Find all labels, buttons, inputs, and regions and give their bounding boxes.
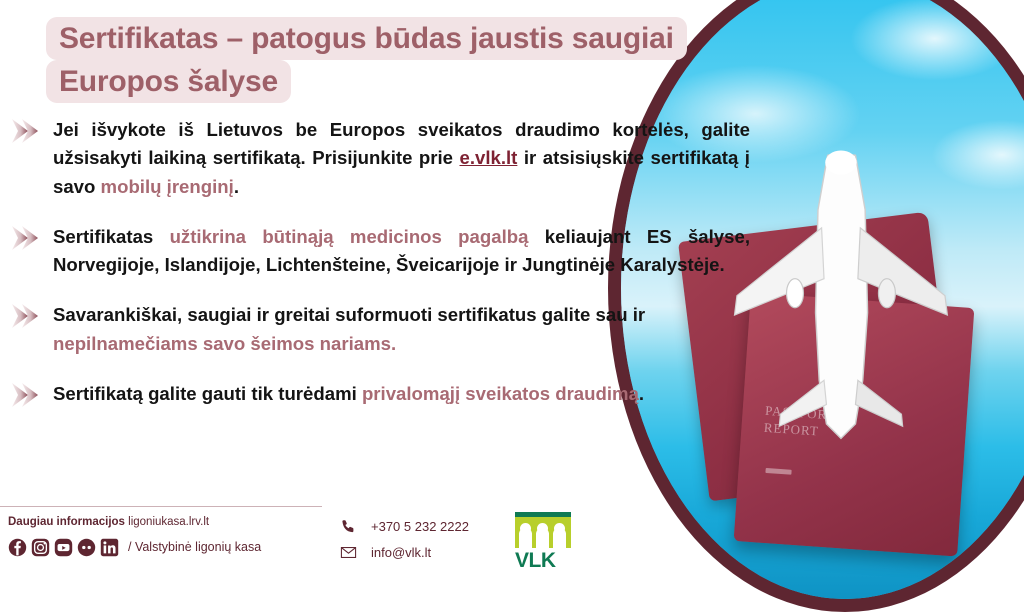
seg-text: Sertifikatas: [53, 226, 170, 247]
list-item: Jei išvykote iš Lietuvos be Europos svei…: [0, 116, 760, 201]
youtube-icon[interactable]: [54, 538, 73, 557]
more-info-label: Daugiau informacijos: [8, 516, 125, 528]
email-row[interactable]: info@vlk.lt: [340, 544, 469, 561]
chevron-right-icon: [8, 380, 42, 410]
passport-label: PASSPORT REPORT: [763, 404, 835, 441]
social-handle: / Valstybinė ligonių kasa: [128, 540, 261, 554]
facebook-icon[interactable]: [8, 538, 27, 557]
email-address: info@vlk.lt: [371, 545, 431, 560]
chevron-right-icon: [8, 116, 42, 146]
seg-accent: nepilnamečiams savo šeimos nariams.: [53, 333, 396, 354]
seg-accent: mobilų įrenginį: [101, 176, 234, 197]
list-item: Savarankiškai, saugiai ir greitai suform…: [0, 301, 760, 358]
phone-number: +370 5 232 2222: [371, 519, 469, 534]
flickr-icon[interactable]: [77, 538, 96, 557]
linkedin-icon[interactable]: [100, 538, 119, 557]
list-item: Sertifikatas užtikrina būtinąją medicino…: [0, 223, 760, 280]
bullet-text-4: Sertifikatą galite gauti tik turėdami pr…: [53, 380, 750, 408]
chevron-right-icon: [8, 301, 42, 331]
phone-icon: [340, 518, 357, 535]
passport-emblem: [765, 469, 791, 476]
seg-text: Savarankiškai, saugiai ir greitai suform…: [53, 304, 645, 325]
bullet-text-2: Sertifikatas užtikrina būtinąją medicino…: [53, 223, 750, 280]
vlk-link[interactable]: e.vlk.lt: [459, 147, 517, 168]
seg-accent: privalomąjį sveikatos draudimą: [362, 383, 639, 404]
title-line-2: Europos šalyse: [46, 60, 291, 103]
instagram-icon[interactable]: [31, 538, 50, 557]
bullet-list: Jei išvykote iš Lietuvos be Europos svei…: [0, 116, 760, 430]
vlk-logo-text: VLK: [515, 550, 573, 571]
envelope-icon: [340, 544, 357, 561]
title-line-1: Sertifikatas – patogus būdas jaustis sau…: [46, 17, 687, 60]
footer-contact-column: +370 5 232 2222 info@vlk.lt: [340, 518, 469, 561]
footer: Daugiau informacijos ligoniukasa.lrv.lt: [8, 516, 1008, 576]
vlk-logo-icon: [515, 512, 571, 548]
social-links: / Valstybinė ligonių kasa: [8, 538, 338, 557]
list-item: Sertifikatą galite gauti tik turėdami pr…: [0, 380, 760, 408]
bullet-text-3: Savarankiškai, saugiai ir greitai suform…: [53, 301, 750, 358]
seg-text: .: [639, 383, 644, 404]
seg-text: .: [234, 176, 239, 197]
footer-divider: [0, 506, 322, 507]
seg-accent: užtikrina būtinąją medicinos pagalbą: [170, 226, 529, 247]
vlk-logo: VLK: [515, 512, 573, 571]
bullet-text-1: Jei išvykote iš Lietuvos be Europos svei…: [53, 116, 750, 201]
footer-info-column: Daugiau informacijos ligoniukasa.lrv.lt: [8, 516, 338, 557]
seg-text: Sertifikatą galite gauti tik turėdami: [53, 383, 362, 404]
more-info-line: Daugiau informacijos ligoniukasa.lrv.lt: [8, 516, 338, 530]
phone-row[interactable]: +370 5 232 2222: [340, 518, 469, 535]
page-title: Sertifikatas – patogus būdas jaustis sau…: [46, 18, 746, 103]
website-link[interactable]: ligoniukasa.lrv.lt: [128, 516, 209, 528]
chevron-right-icon: [8, 223, 42, 253]
